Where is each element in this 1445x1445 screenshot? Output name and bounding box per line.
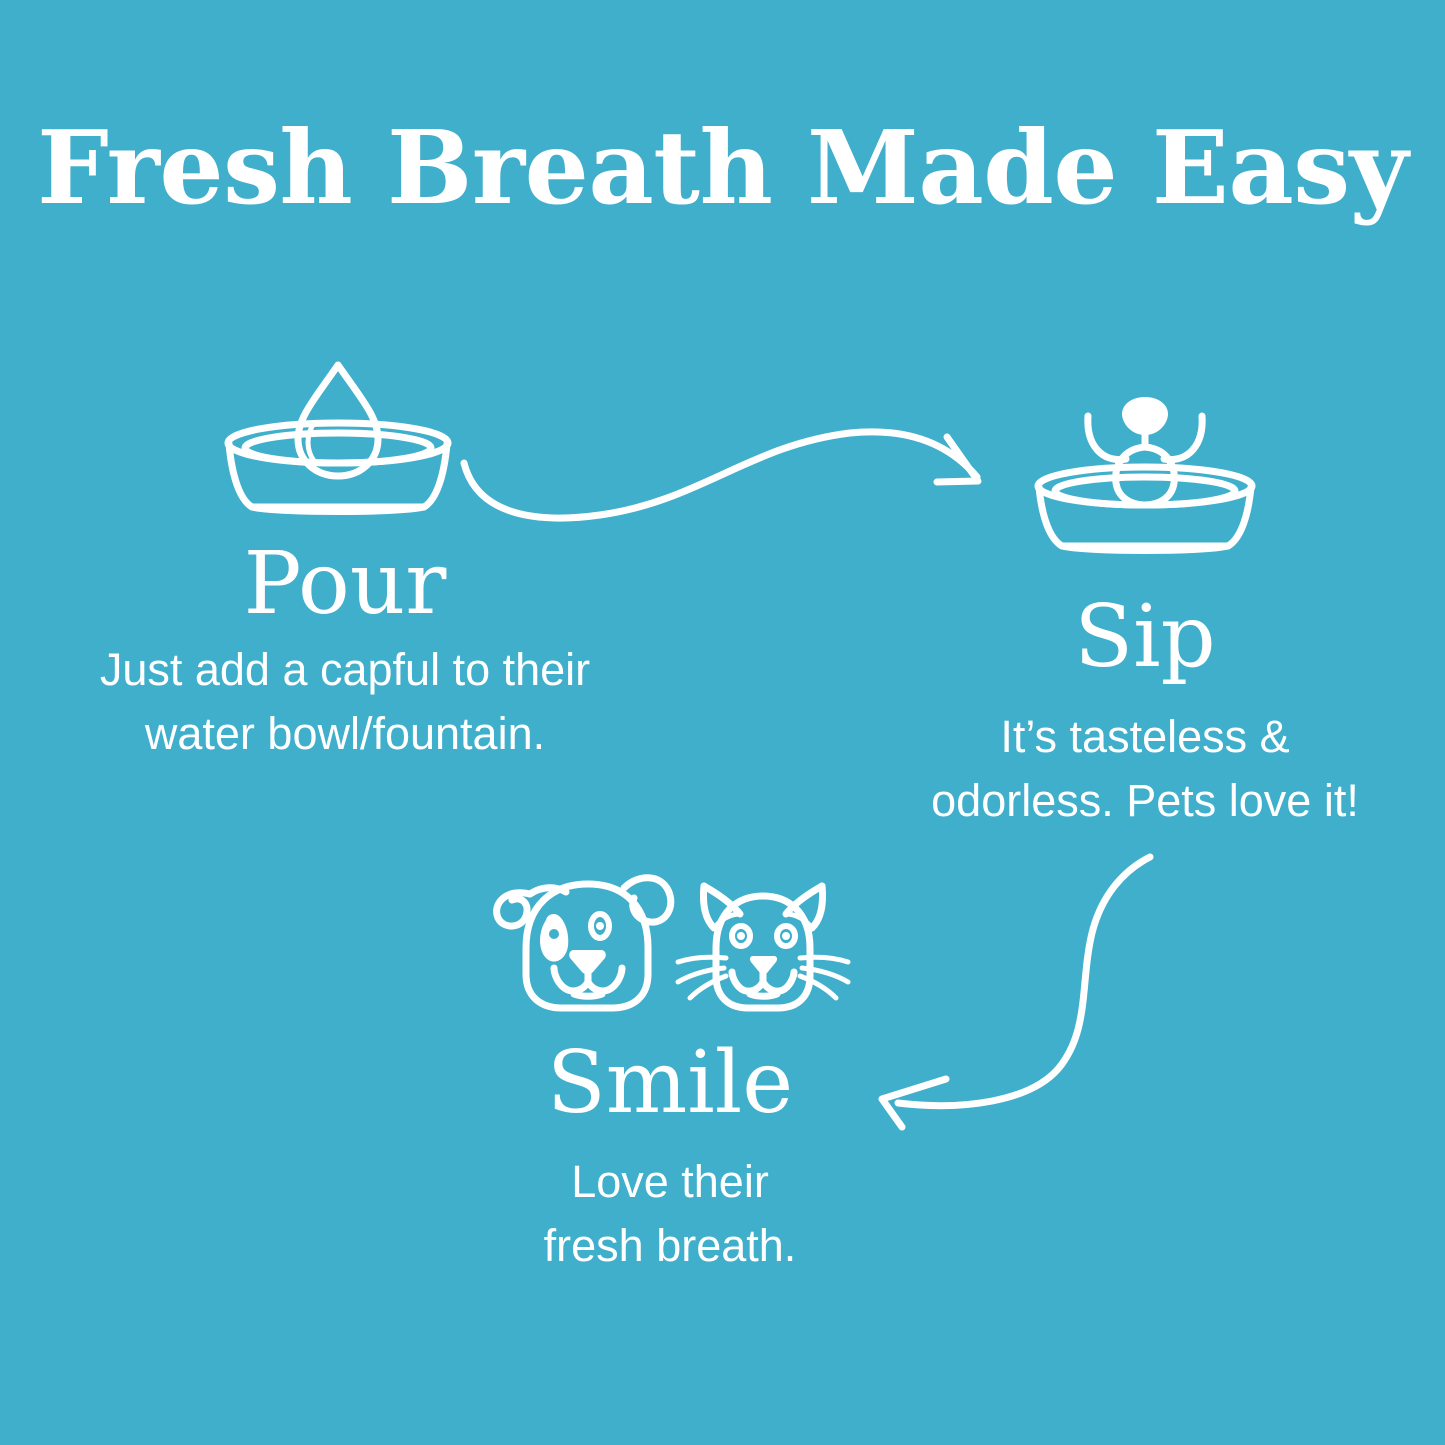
step-smile-heading: Smile (430, 1040, 910, 1126)
dog-face (497, 878, 671, 1008)
page-title: Fresh Breath Made Easy (0, 112, 1445, 223)
step-sip-body-line1: It’s tasteless & (875, 705, 1415, 769)
step-sip-heading: Sip (905, 594, 1385, 680)
water-bowl-with-droplet-icon (216, 355, 460, 515)
step-smile-body: Love their fresh breath. (430, 1150, 910, 1278)
dog-drinking-from-bowl-icon (1030, 383, 1260, 553)
step-smile-body-line2: fresh breath. (430, 1214, 910, 1278)
cat-face (678, 886, 848, 1008)
dog-and-cat-faces-icon (478, 862, 858, 1022)
step-pour-body-line2: water bowl/fountain. (0, 702, 690, 766)
step-smile-body-line1: Love their (430, 1150, 910, 1214)
step-sip-body-line2: odorless. Pets love it! (875, 769, 1415, 833)
curved-arrow-right-icon (450, 415, 1010, 535)
step-pour-body: Just add a capful to their water bowl/fo… (0, 638, 690, 766)
step-pour-heading: Pour (0, 541, 690, 627)
step-pour-body-line1: Just add a capful to their (0, 638, 690, 702)
step-sip-body: It’s tasteless & odorless. Pets love it! (875, 705, 1415, 833)
infographic-canvas: Fresh Breath Made Easy Pour Just add a c… (0, 0, 1445, 1445)
